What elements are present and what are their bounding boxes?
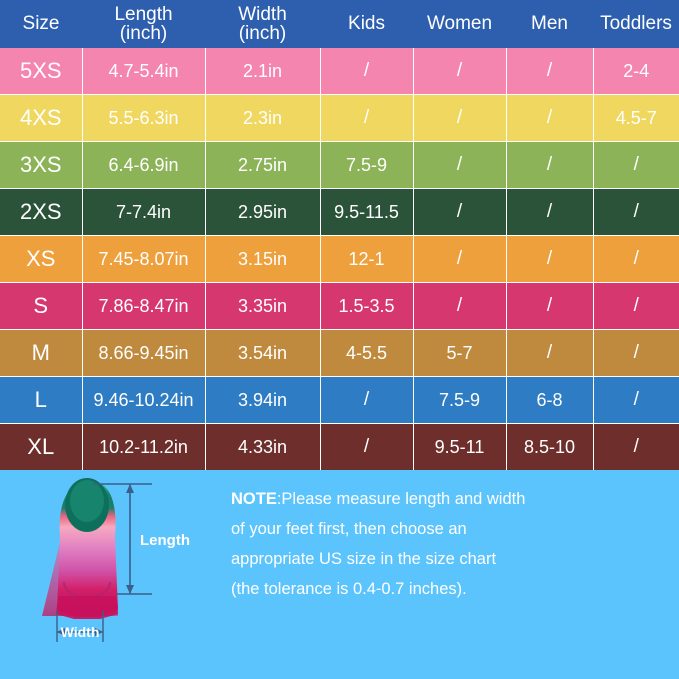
cell-men: / <box>506 330 593 377</box>
cell-men: / <box>506 142 593 189</box>
cell-kids: / <box>320 377 413 424</box>
note-panel: Length Width NOTE:Please measure length … <box>0 470 679 679</box>
width-dimension-label: Width <box>61 624 100 640</box>
cell-men: / <box>506 48 593 95</box>
cell-women: 7.5-9 <box>413 377 506 424</box>
note-line-4: (the tolerance is 0.4-0.7 inches). <box>231 574 663 604</box>
table-body: 5XS4.7-5.4in2.1in///2-44XS5.5-6.3in2.3in… <box>0 48 679 470</box>
cell-kids: 9.5-11.5 <box>320 189 413 236</box>
cell-women: / <box>413 283 506 330</box>
table-row: M8.66-9.45in3.54in4-5.55-7// <box>0 330 679 377</box>
note-line-1: NOTE:Please measure length and width <box>231 484 663 514</box>
column-header-size-label: Size <box>23 13 60 34</box>
table-row: S7.86-8.47in3.35in1.5-3.5/// <box>0 283 679 330</box>
cell-length: 8.66-9.45in <box>82 330 205 377</box>
column-header-length-unit: (inch) <box>84 24 203 43</box>
cell-length: 7.45-8.07in <box>82 236 205 283</box>
cell-toddlers: / <box>593 330 679 377</box>
cell-kids: 4-5.5 <box>320 330 413 377</box>
cell-kids: 7.5-9 <box>320 142 413 189</box>
cell-toddlers: / <box>593 142 679 189</box>
fin-toe-opening-highlight <box>70 480 104 522</box>
table-row: 4XS5.5-6.3in2.3in///4.5-7 <box>0 95 679 142</box>
table-row: 5XS4.7-5.4in2.1in///2-4 <box>0 48 679 95</box>
cell-toddlers: / <box>593 424 679 471</box>
cell-length: 9.46-10.24in <box>82 377 205 424</box>
size-chart-page: Size Length (inch) Width (inch) Kids Wom… <box>0 0 679 679</box>
cell-size: M <box>0 330 82 377</box>
fin-illustration-svg: Length Width <box>0 470 215 649</box>
cell-size: L <box>0 377 82 424</box>
column-header-kids: Kids <box>320 0 413 48</box>
cell-toddlers: 2-4 <box>593 48 679 95</box>
table-row: XS7.45-8.07in3.15in12-1/// <box>0 236 679 283</box>
fin-foot-band <box>56 596 118 619</box>
cell-women: 5-7 <box>413 330 506 377</box>
column-header-kids-label: Kids <box>348 13 385 34</box>
note-line-3: appropriate US size in the size chart <box>231 544 663 574</box>
cell-size: 2XS <box>0 189 82 236</box>
length-arrow-head-top <box>126 484 134 493</box>
column-header-women-label: Women <box>427 13 492 34</box>
column-header-width-unit: (inch) <box>207 24 318 43</box>
cell-width: 2.1in <box>205 48 320 95</box>
table-header: Size Length (inch) Width (inch) Kids Wom… <box>0 0 679 48</box>
cell-kids: / <box>320 95 413 142</box>
cell-toddlers: / <box>593 283 679 330</box>
cell-kids: 1.5-3.5 <box>320 283 413 330</box>
note-line-2: of your feet first, then choose an <box>231 514 663 544</box>
size-chart-table: Size Length (inch) Width (inch) Kids Wom… <box>0 0 679 470</box>
length-arrow-head-bottom <box>126 585 134 594</box>
cell-width: 2.75in <box>205 142 320 189</box>
cell-toddlers: / <box>593 236 679 283</box>
column-header-size: Size <box>0 0 82 48</box>
fin-diagram: Length Width <box>0 470 215 679</box>
column-header-toddlers: Toddlers <box>593 0 679 48</box>
column-header-width-label: Width <box>238 4 287 25</box>
cell-length: 7-7.4in <box>82 189 205 236</box>
cell-width: 2.95in <box>205 189 320 236</box>
cell-men: / <box>506 283 593 330</box>
note-strong-label: NOTE <box>231 490 277 508</box>
cell-width: 2.3in <box>205 95 320 142</box>
cell-women: / <box>413 95 506 142</box>
cell-length: 7.86-8.47in <box>82 283 205 330</box>
column-header-length: Length (inch) <box>82 0 205 48</box>
cell-size: S <box>0 283 82 330</box>
cell-men: / <box>506 189 593 236</box>
cell-length: 10.2-11.2in <box>82 424 205 471</box>
cell-women: / <box>413 142 506 189</box>
column-header-toddlers-label: Toddlers <box>600 13 672 34</box>
cell-men: 6-8 <box>506 377 593 424</box>
cell-toddlers: / <box>593 377 679 424</box>
cell-size: 4XS <box>0 95 82 142</box>
table-row: L9.46-10.24in3.94in/7.5-96-8/ <box>0 377 679 424</box>
column-header-width: Width (inch) <box>205 0 320 48</box>
cell-men: 8.5-10 <box>506 424 593 471</box>
cell-length: 5.5-6.3in <box>82 95 205 142</box>
cell-men: / <box>506 236 593 283</box>
cell-width: 3.15in <box>205 236 320 283</box>
cell-width: 3.94in <box>205 377 320 424</box>
column-header-men-label: Men <box>531 13 568 34</box>
cell-women: / <box>413 189 506 236</box>
cell-men: / <box>506 95 593 142</box>
table-row: 2XS7-7.4in2.95in9.5-11.5/// <box>0 189 679 236</box>
cell-kids: / <box>320 48 413 95</box>
cell-women: 9.5-11 <box>413 424 506 471</box>
table-row: XL10.2-11.2in4.33in/9.5-118.5-10/ <box>0 424 679 471</box>
cell-size: XL <box>0 424 82 471</box>
cell-width: 3.35in <box>205 283 320 330</box>
cell-kids: / <box>320 424 413 471</box>
cell-size: 3XS <box>0 142 82 189</box>
cell-size: XS <box>0 236 82 283</box>
table-header-row: Size Length (inch) Width (inch) Kids Wom… <box>0 0 679 48</box>
cell-length: 4.7-5.4in <box>82 48 205 95</box>
cell-women: / <box>413 236 506 283</box>
table-row: 3XS6.4-6.9in2.75in7.5-9/// <box>0 142 679 189</box>
column-header-men: Men <box>506 0 593 48</box>
note-line-1-text: :Please measure length and width <box>277 490 526 508</box>
cell-width: 3.54in <box>205 330 320 377</box>
length-dimension-label: Length <box>140 532 190 549</box>
column-header-length-label: Length <box>114 4 172 25</box>
cell-kids: 12-1 <box>320 236 413 283</box>
cell-toddlers: 4.5-7 <box>593 95 679 142</box>
column-header-women: Women <box>413 0 506 48</box>
cell-size: 5XS <box>0 48 82 95</box>
cell-length: 6.4-6.9in <box>82 142 205 189</box>
cell-width: 4.33in <box>205 424 320 471</box>
note-text-block: NOTE:Please measure length and width of … <box>215 470 679 679</box>
cell-women: / <box>413 48 506 95</box>
cell-toddlers: / <box>593 189 679 236</box>
